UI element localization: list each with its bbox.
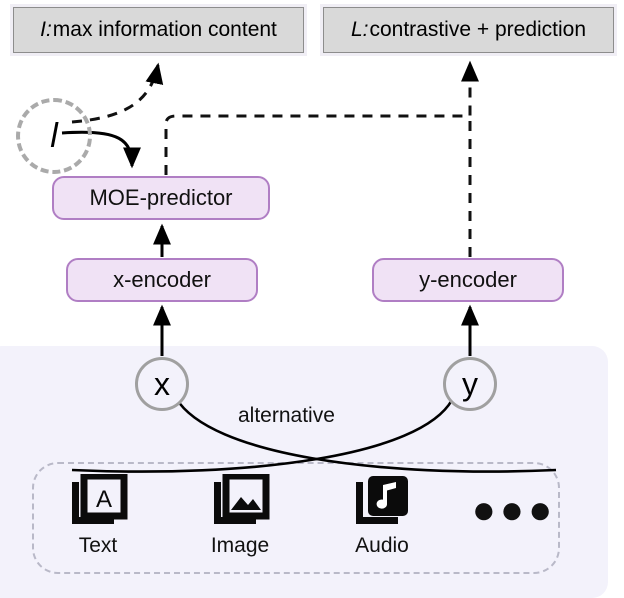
module-moe-label: MOE-predictor <box>89 185 232 211</box>
modality-more-ellipsis: ●●● <box>466 500 562 520</box>
node-x-label: x <box>154 366 170 403</box>
objective-text-loss: contrastive + prediction <box>369 18 586 42</box>
modality-text: A Text <box>43 474 153 558</box>
diagram-canvas: I: max information content L: contrastiv… <box>0 0 624 598</box>
modality-image-label: Image <box>185 534 295 558</box>
latent-variable-label: l <box>50 117 58 156</box>
objective-symbol-I: I: <box>40 18 52 42</box>
text-stack-icon: A <box>43 474 153 532</box>
edge-label-alternative: alternative <box>238 404 335 428</box>
audio-stack-icon <box>327 474 437 532</box>
module-y-encoder-label: y-encoder <box>419 267 517 293</box>
modality-audio: Audio <box>327 474 437 558</box>
node-y: y <box>443 357 497 411</box>
modality-image: Image <box>185 474 295 558</box>
module-x-encoder-label: x-encoder <box>113 267 211 293</box>
node-y-label: y <box>462 366 478 403</box>
image-stack-icon <box>185 474 295 532</box>
module-moe-predictor: MOE-predictor <box>52 176 270 220</box>
edge-moe-to-loss <box>166 63 470 175</box>
objective-box-loss: L: contrastive + prediction <box>323 7 614 53</box>
node-x: x <box>135 357 189 411</box>
modality-text-label: Text <box>43 534 153 558</box>
objective-text-information: max information content <box>53 18 277 42</box>
latent-variable-node: l <box>16 98 92 174</box>
module-x-encoder: x-encoder <box>66 258 258 302</box>
objective-box-information: I: max information content <box>13 7 304 53</box>
objective-symbol-L: L: <box>351 18 369 42</box>
modality-audio-label: Audio <box>327 534 437 558</box>
module-y-encoder: y-encoder <box>372 258 564 302</box>
svg-text:A: A <box>96 486 112 513</box>
